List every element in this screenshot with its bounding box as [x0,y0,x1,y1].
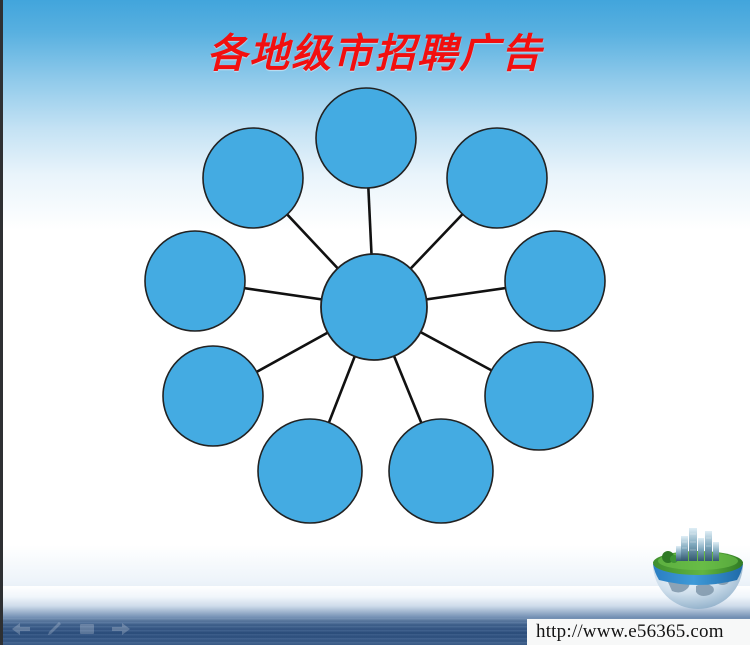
diagram-node[interactable] [145,231,245,331]
next-slide-icon[interactable] [110,621,132,637]
node-circle-3[interactable] [485,342,593,450]
diagram-node[interactable] [163,346,263,446]
diagram-center-node[interactable] [321,254,427,360]
globe-city-logo [648,524,748,614]
slide-left-border [0,0,3,645]
menu-icon[interactable] [78,621,96,637]
center-node-circle[interactable] [321,254,427,360]
node-circle-8[interactable] [203,128,303,228]
previous-slide-icon[interactable] [10,621,32,637]
node-circle-2[interactable] [505,231,605,331]
diagram-node[interactable] [203,128,303,228]
node-circle-7[interactable] [145,231,245,331]
website-url[interactable]: http://www.e56365.com [527,619,750,645]
diagram-node[interactable] [389,419,493,523]
node-circle-5[interactable] [258,419,362,523]
slideshow-controls[interactable] [10,621,132,637]
diagram-node[interactable] [258,419,362,523]
diagram-node[interactable] [316,88,416,188]
presentation-slide: 各地级市招聘广告 [0,0,750,645]
node-circle-6[interactable] [163,346,263,446]
hub-and-spoke-diagram [0,0,750,610]
node-circle-0[interactable] [316,88,416,188]
node-circle-1[interactable] [447,128,547,228]
diagram-node[interactable] [485,342,593,450]
diagram-node[interactable] [447,128,547,228]
diagram-node[interactable] [505,231,605,331]
pen-icon[interactable] [46,621,64,637]
node-circle-4[interactable] [389,419,493,523]
